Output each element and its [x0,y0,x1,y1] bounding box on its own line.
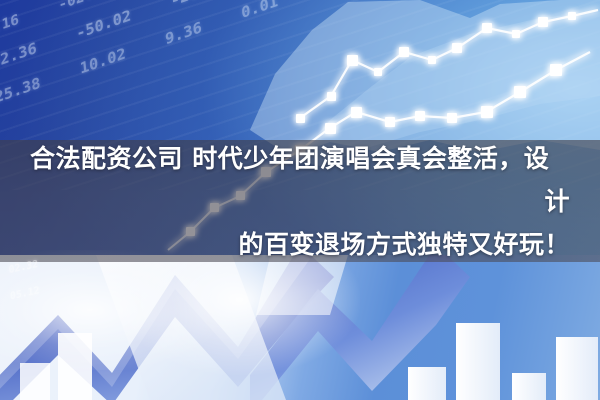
lower-ticker-values: 02.32 05.12 [8,252,40,311]
page-title: 合法配资公司 时代少年团演唱会真会整活，设计 的百变退场方式独特又好玩！ [30,137,570,266]
headline-line-2: 的百变退场方式独特又好玩！ [30,223,570,266]
headline-container: 合法配资公司 时代少年团演唱会真会整活，设计 的百变退场方式独特又好玩！ [0,137,600,266]
article-banner: +5.02 -02.36 -11.25 +9.02 21.36 -0.95 2.… [0,0,600,400]
bar-column [456,323,500,400]
bar-column [408,367,446,400]
bar-column [556,337,598,400]
bar-column [512,373,546,400]
headline-overlay-band: 合法配资公司 时代少年团演唱会真会整活，设计 的百变退场方式独特又好玩！ [0,140,600,262]
headline-line-1: 合法配资公司 时代少年团演唱会真会整活，设计 [30,137,570,223]
